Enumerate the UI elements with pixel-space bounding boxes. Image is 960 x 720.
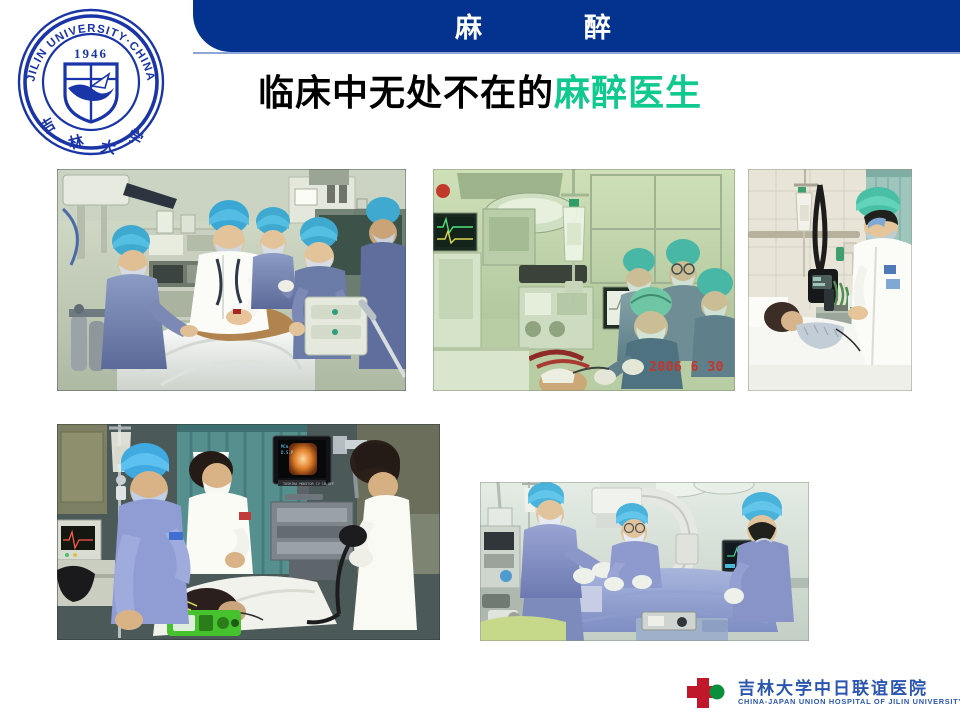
hospital-name-en: CHINA-JAPAN UNION HOSPITAL OF JILIN UNIV…	[738, 697, 960, 706]
hospital-cross-icon	[683, 672, 733, 714]
seal-year: 1946	[74, 46, 108, 61]
photo-2-scene: 2006 6 30	[433, 169, 735, 391]
photo-3-scene	[748, 169, 912, 391]
photo-anesthesia-monitoring: 2006 6 30	[433, 169, 735, 391]
svg-text:大: 大	[99, 137, 117, 157]
svg-text:MCm: MCm	[281, 444, 289, 449]
svg-text:D.S.P: D.S.P	[281, 450, 294, 455]
page-title-plain: 临床中无处不在的	[258, 73, 554, 114]
photo-ward-round-pca	[748, 169, 912, 391]
photo-operating-room-team	[57, 169, 406, 391]
header-title-left: 麻	[455, 13, 484, 44]
photo-endoscopy-sedation: MCm D.S.P TOSHIBA MONITOR CV 1B OFF	[57, 424, 440, 640]
svg-text:林: 林	[67, 132, 87, 153]
header-title-right: 醉	[584, 13, 613, 44]
page-title: 临床中无处不在的麻醉医生	[0, 64, 960, 116]
hospital-name-cn: 吉林大学中日联谊医院	[738, 674, 928, 699]
header-title: 麻醉	[455, 6, 613, 45]
photo-timestamp: 2006 6 30	[649, 360, 724, 375]
page-title-accent: 麻醉医生	[554, 73, 702, 114]
photo-carm-procedure	[480, 482, 809, 641]
svg-text:TOSHIBA MONITOR CV 1B OFF: TOSHIBA MONITOR CV 1B OFF	[283, 482, 334, 486]
presentation-slide: 麻醉 JILIN UNIVERSITY·CHINA 1946	[0, 0, 960, 720]
photo-1-scene	[57, 169, 406, 391]
footer-hospital-logo: 吉林大学中日联谊医院 CHINA-JAPAN UNION HOSPITAL OF…	[683, 672, 945, 714]
photo-5-scene	[480, 482, 809, 641]
photo-4-scene: MCm D.S.P TOSHIBA MONITOR CV 1B OFF	[57, 424, 440, 640]
